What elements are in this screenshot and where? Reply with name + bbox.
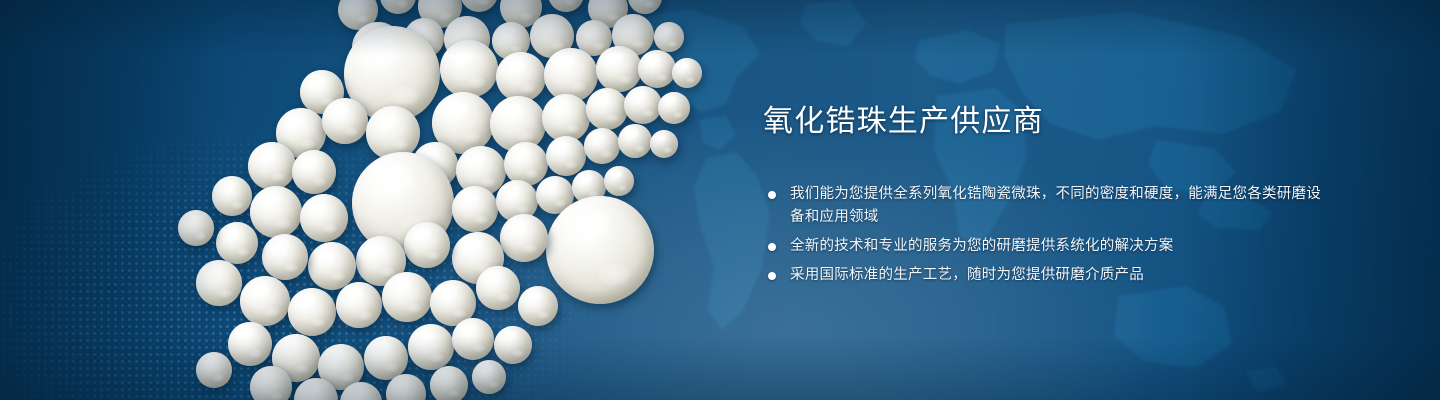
list-item: 我们能为您提供全系列氧化锆陶瓷微珠，不同的密度和硬度，能满足您各类研磨设备和应用… (763, 183, 1323, 229)
bullet-dot-icon (768, 191, 776, 199)
list-item: 全新的技术和专业的服务为您的研磨提供系统化的解决方案 (763, 235, 1323, 258)
hero-banner: 氧化锆珠生产供应商 我们能为您提供全系列氧化锆陶瓷微珠，不同的密度和硬度，能满足… (0, 0, 1440, 400)
banner-headline: 氧化锆珠生产供应商 (763, 104, 1323, 141)
banner-copy: 氧化锆珠生产供应商 我们能为您提供全系列氧化锆陶瓷微珠，不同的密度和硬度，能满足… (763, 104, 1323, 287)
feature-list: 我们能为您提供全系列氧化锆陶瓷微珠，不同的密度和硬度，能满足您各类研磨设备和应用… (763, 183, 1323, 287)
bullet-dot-icon (768, 243, 776, 251)
list-item-label: 全新的技术和专业的服务为您的研磨提供系统化的解决方案 (790, 238, 1174, 254)
list-item-label: 采用国际标准的生产工艺，随时为您提供研磨介质产品 (790, 267, 1144, 283)
list-item: 采用国际标准的生产工艺，随时为您提供研磨介质产品 (763, 264, 1323, 287)
bullet-dot-icon (768, 272, 776, 280)
list-item-label: 我们能为您提供全系列氧化锆陶瓷微珠，不同的密度和硬度，能满足您各类研磨设备和应用… (790, 186, 1321, 225)
halftone-texture (0, 120, 760, 400)
